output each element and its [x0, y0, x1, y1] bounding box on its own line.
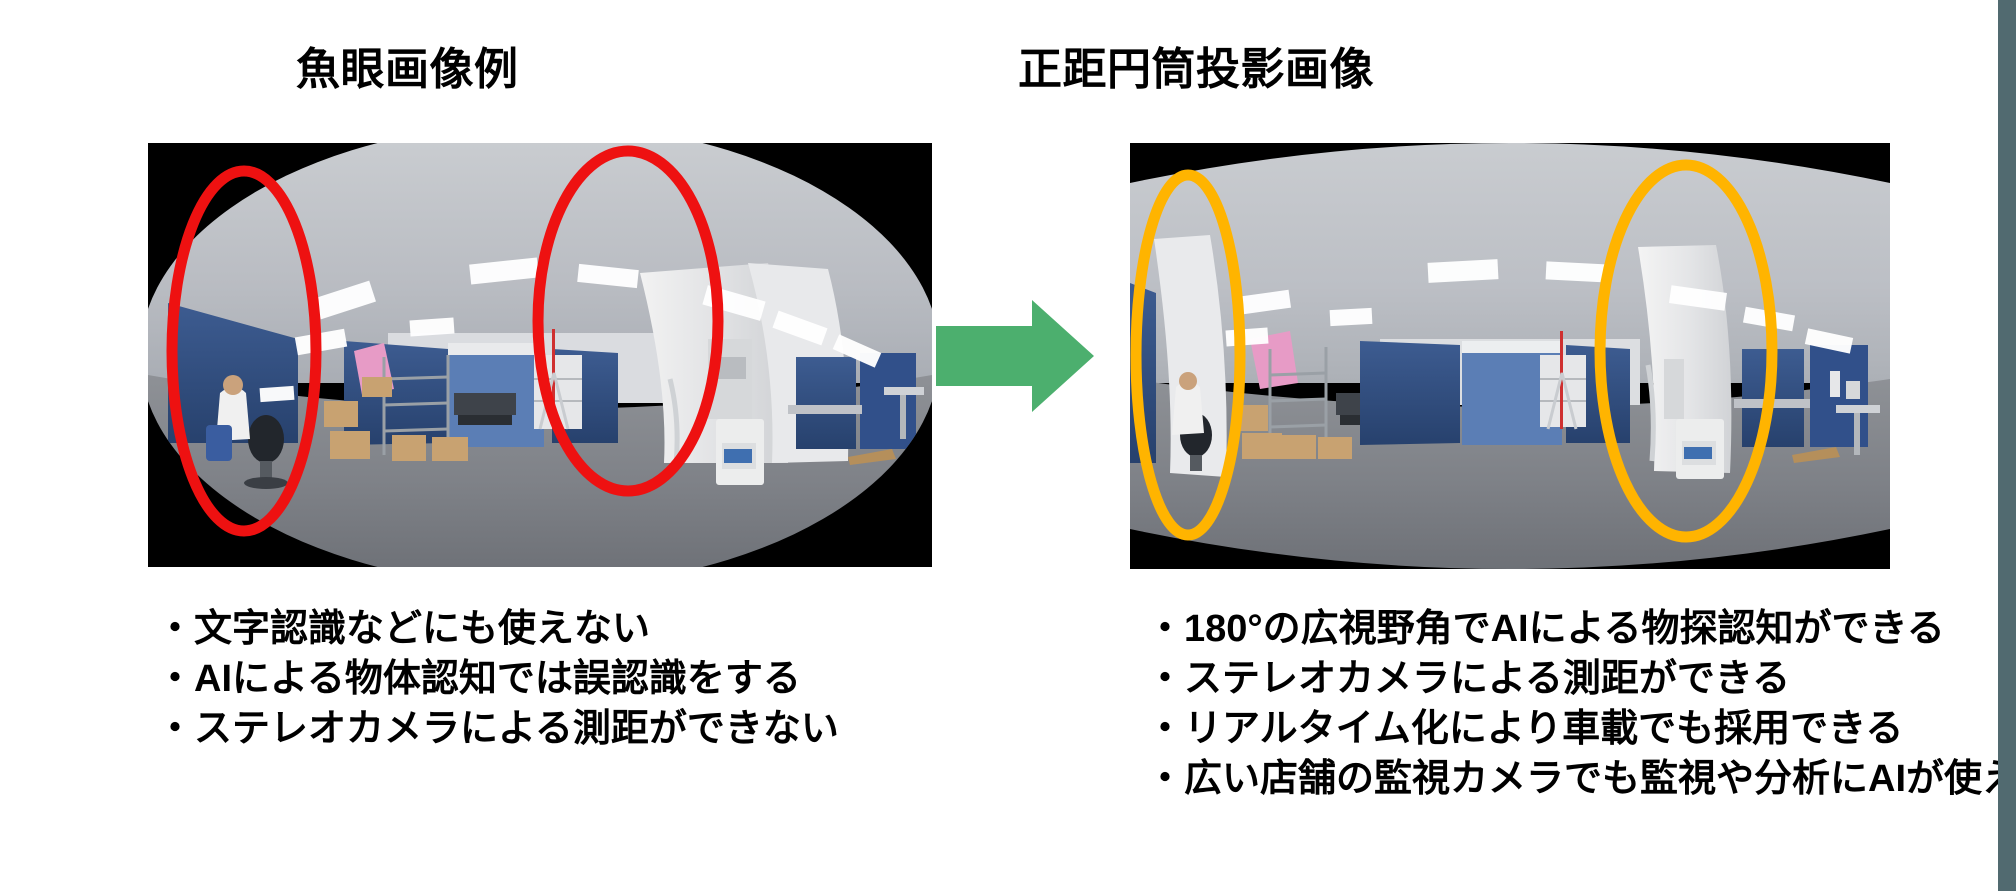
left-bullet-list: ・文字認識などにも使えない ・AIによる物体認知では誤認識をする ・ステレオカメ…: [156, 604, 839, 754]
equirectangular-image: [1130, 143, 1890, 569]
list-item: ・文字認識などにも使えない: [156, 604, 839, 654]
slide-canvas: 魚眼画像例 正距円筒投影画像: [0, 0, 2016, 891]
right-panel-title: 正距円筒投影画像: [1018, 48, 1374, 92]
equirectangular-image-graphic: [1130, 143, 1890, 569]
list-item: ・リアルタイム化により車載でも採用できる: [1146, 704, 2016, 754]
scrollbar-track[interactable]: [1998, 0, 2016, 891]
fisheye-image: [148, 143, 932, 567]
list-item: ・180°の広視野角でAIによる物探認知ができる: [1146, 604, 2016, 654]
scrollbar-thumb[interactable]: [1998, 0, 2016, 891]
arrow-icon: [932, 296, 1098, 416]
transform-arrow: [932, 296, 1098, 416]
list-item: ・広い店舗の監視カメラでも監視や分析にAIが使える: [1146, 754, 2016, 804]
list-item: ・ステレオカメラによる測距ができない: [156, 704, 839, 754]
fisheye-image-graphic: [148, 143, 932, 567]
list-item: ・ステレオカメラによる測距ができる: [1146, 654, 2016, 704]
right-bullet-list: ・180°の広視野角でAIによる物探認知ができる ・ステレオカメラによる測距がで…: [1146, 604, 2016, 804]
list-item: ・AIによる物体認知では誤認識をする: [156, 654, 839, 704]
left-panel-title: 魚眼画像例: [296, 48, 519, 92]
